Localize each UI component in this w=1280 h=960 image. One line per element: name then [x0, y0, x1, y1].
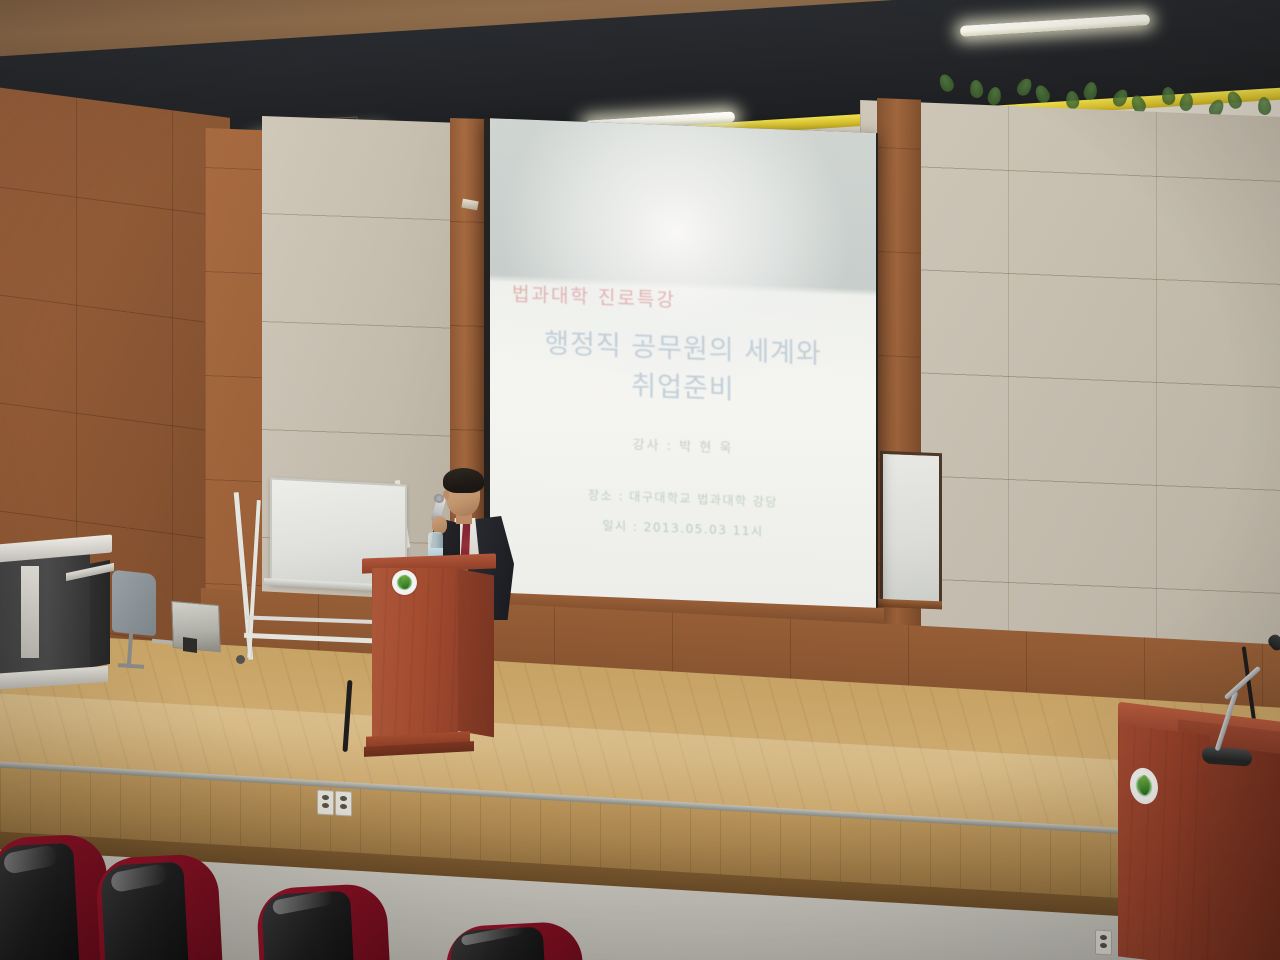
presentation-slide: 법과대학 진로특강 행정직 공무원의 세계와 취업준비 강사 : 박 현 욱 장… [490, 118, 876, 621]
leaf-icon [1161, 86, 1176, 105]
auditorium-seat[interactable] [256, 883, 391, 960]
projection-screen: 법과대학 진로특강 행정직 공무원의 세계와 취업준비 강사 : 박 현 욱 장… [490, 118, 876, 621]
podium-side-panel [456, 569, 494, 738]
leaf-icon [937, 72, 956, 94]
leaf-icon [1178, 92, 1194, 112]
av-lectern-side-panel [88, 560, 110, 668]
av-lectern-stripe [21, 566, 39, 658]
leaf-icon [1225, 89, 1244, 111]
leaf-icon [1033, 83, 1052, 105]
slide-place-text: 장소 : 대구대학교 법과대학 강당 [490, 482, 876, 514]
leaf-icon [1082, 81, 1098, 101]
presenter-hair [443, 468, 484, 493]
gooseneck-microphone-base [1202, 746, 1253, 767]
slide-speaker-text: 강사 : 박 현 욱 [490, 428, 876, 462]
leaf-icon [1014, 76, 1034, 98]
auditorium-seat[interactable] [445, 920, 584, 960]
projection-screen-frame: 법과대학 진로특강 행정직 공무원의 세계와 취업준비 강사 : 박 현 욱 장… [484, 118, 878, 625]
power-outlet[interactable] [317, 789, 334, 815]
leaf-icon [1257, 96, 1272, 115]
slide-title: 행정직 공무원의 세계와 취업준비 [490, 322, 876, 415]
leaf-icon [401, 575, 409, 589]
right-podium-front-panel [1118, 724, 1210, 960]
wooden-podium[interactable] [366, 556, 494, 760]
leaf-icon [969, 80, 984, 99]
auditorium-seat[interactable] [95, 853, 223, 960]
stage-chair[interactable] [112, 570, 156, 637]
leaf-icon [1110, 87, 1130, 109]
leaf-icon [1065, 90, 1080, 109]
auditorium-photo: 법과대학 진로특강 행정직 공무원의 세계와 취업준비 강사 : 박 현 욱 장… [0, 0, 1280, 960]
power-outlet[interactable] [335, 790, 352, 816]
power-outlet[interactable] [1095, 929, 1112, 955]
floor-monitor-stand [183, 637, 197, 653]
podium-front-panel [372, 568, 458, 738]
leaf-icon [986, 86, 1002, 106]
auditorium-seat[interactable] [0, 833, 111, 960]
whiteboard-caster [236, 655, 245, 664]
slide-datetime-text: 일시 : 2013.05.03 11시 [490, 512, 876, 544]
wall-mounted-whiteboard [880, 451, 942, 609]
wooden-podium-right[interactable] [1118, 712, 1280, 960]
av-control-lectern[interactable] [0, 540, 116, 685]
slide-eyebrow-text: 법과대학 진로특강 [512, 279, 676, 312]
right-podium-side-panel [1208, 739, 1280, 960]
